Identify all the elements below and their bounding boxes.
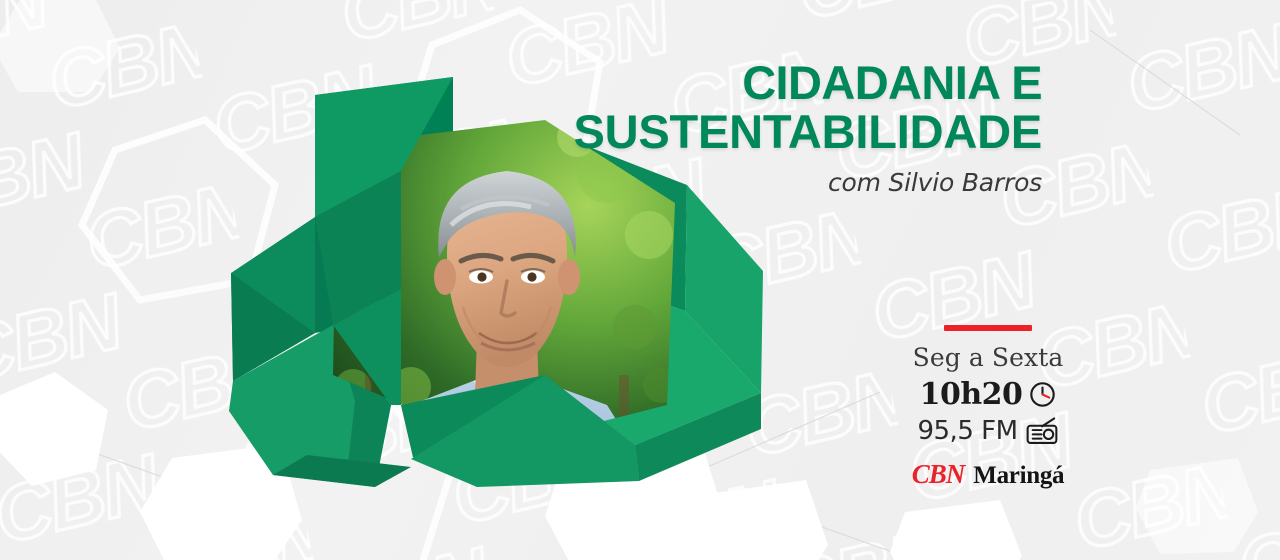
program-title-block: CIDADANIA E SUSTENTABILIDADE com Silvio … <box>222 58 1042 197</box>
cbn-program-banner: CBN CBN <box>0 0 1280 560</box>
schedule-info-block: Seg a Sexta 10h20 95,5 FM CBN Maringá <box>878 325 1098 490</box>
title-line-1: CIDADANIA E <box>222 58 1042 107</box>
schedule-days: Seg a Sexta <box>878 345 1098 371</box>
radio-icon <box>1025 417 1059 445</box>
schedule-frequency-row: 95,5 FM <box>878 416 1098 446</box>
schedule-time: 10h20 <box>920 377 1023 412</box>
clock-icon <box>1029 381 1056 408</box>
schedule-frequency: 95,5 FM <box>917 416 1017 446</box>
cbn-city-text: Maringá <box>973 462 1064 490</box>
red-divider-rule <box>944 325 1032 331</box>
program-host-subtitle: com Silvio Barros <box>222 168 1042 197</box>
cbn-maringa-logo: CBN Maringá <box>878 459 1098 490</box>
schedule-time-row: 10h20 <box>878 377 1098 412</box>
title-line-2: SUSTENTABILIDADE <box>222 107 1042 156</box>
cbn-brand-text: CBN <box>912 459 965 490</box>
